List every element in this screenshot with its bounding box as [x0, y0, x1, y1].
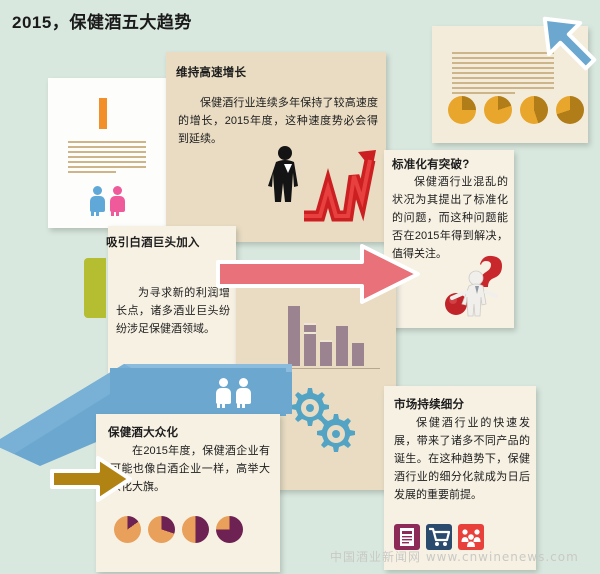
pie-slice — [484, 96, 512, 124]
gold-right-arrow-icon — [48, 452, 134, 506]
gears-icon — [286, 384, 362, 460]
bar — [320, 340, 332, 366]
bar — [288, 306, 300, 366]
trend-title-segmentation: 市场持续细分 — [394, 396, 464, 412]
white-person-icon — [216, 378, 231, 404]
left-card-text-lines — [68, 141, 146, 176]
blue-person-icon — [90, 186, 105, 212]
bar — [336, 326, 348, 366]
pie-slice — [216, 516, 243, 543]
trend-body-growth: 保健酒行业连续多年保持了较高速度的增长，2015年度，这种速度势必会得到延续。 — [178, 94, 378, 148]
blue-down-left-arrow-icon — [530, 2, 600, 78]
orange-bar-accent-icon — [99, 98, 107, 129]
pink-right-arrow-icon — [214, 240, 424, 308]
pie-slice — [448, 96, 476, 124]
pie-slice — [182, 516, 209, 543]
bar — [304, 323, 316, 366]
trend4-header-strip — [110, 368, 286, 416]
trend-body-segmentation: 保健酒行业的快速发展，带来了诸多不同产品的诞生。在这种趋势下，保健酒行业的细分化… — [394, 414, 530, 504]
trend-body-baijiu-giants: 为寻求新的利润增长点，诸多酒业巨头纷纷涉足保健酒领域。 — [116, 284, 230, 338]
trend-tab-baijiu-giants — [84, 258, 106, 318]
trend-title-mass-market: 保健酒大众化 — [108, 424, 178, 440]
white-person-icon — [236, 378, 251, 404]
pink-person-icon — [110, 186, 125, 212]
document-icon — [394, 524, 420, 550]
bar — [352, 343, 364, 366]
trend-title-growth: 维持高速增长 — [176, 64, 246, 80]
figure-question-illustration — [436, 252, 514, 322]
pie-slice — [556, 96, 584, 124]
page-title: 2015，保健酒五大趋势 — [12, 8, 192, 33]
trend-body-mass-market: 在2015年度，保健酒企业有可能也像白酒企业一样，高举大众化大旗。 — [110, 442, 270, 496]
watermark: 中国酒业新闻网 www.cnwinenews.com — [330, 548, 579, 565]
trend-title-standardization: 标准化有突破? — [392, 156, 469, 172]
shopping-cart-icon — [426, 524, 452, 550]
businessman-rising-arrow-illustration — [262, 142, 380, 224]
pie-slice — [114, 516, 141, 543]
infographic-canvas: 2015，保健酒五大趋势 维持高速增长 保健酒行业连续多年保持了较高速度的增长，… — [0, 0, 600, 574]
pie-slice — [148, 516, 175, 543]
chart-center-bars — [288, 306, 368, 366]
trend-title-baijiu-giants: 吸引白酒巨头加入 — [106, 234, 200, 250]
people-group-icon — [458, 524, 484, 550]
pie-slice — [520, 96, 548, 124]
